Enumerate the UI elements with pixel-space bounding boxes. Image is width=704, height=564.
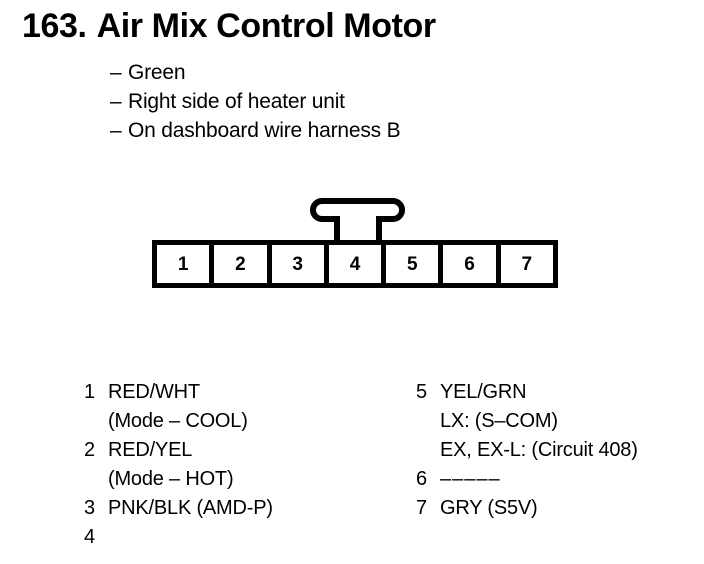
page-title-number: 163.: [22, 7, 87, 45]
pin-legend-number: 5: [416, 378, 440, 407]
connector-pin-5: 5: [386, 245, 443, 283]
pin-legend-wire-label: GRY (S5V): [440, 494, 696, 523]
pin-legend-wire-label: [108, 523, 404, 552]
connector-pin-7: 7: [501, 245, 553, 283]
pin-legend-entry: 6–––––: [416, 465, 696, 494]
spec-line: –Green: [110, 58, 400, 87]
connector-pinout-page: { "header": { "number": "163.", "title":…: [0, 0, 704, 564]
spec-dash: –: [110, 116, 128, 145]
pin-legend-wire-label: –––––: [440, 465, 696, 494]
pin-legend-number: 7: [416, 494, 440, 523]
pin-legend-row: 3PNK/BLK (AMD-P): [84, 494, 404, 523]
pin-legend-row: 7GRY (S5V): [416, 494, 696, 523]
pin-legend-sub-label: (Mode – HOT): [108, 465, 404, 494]
connector-pin-2: 2: [214, 245, 271, 283]
pin-legend-number: 1: [84, 378, 108, 407]
pin-legend-entry: 3PNK/BLK (AMD-P): [84, 494, 404, 523]
connector-pin-row: 1234567: [152, 240, 558, 288]
pin-legend-right-column: 5YEL/GRNLX: (S–COM)EX, EX-L: (Circuit 40…: [416, 378, 696, 523]
pin-legend-wire-label: YEL/GRN: [440, 378, 696, 407]
spec-list: –Green–Right side of heater unit–On dash…: [110, 58, 400, 145]
pin-legend-row: 5YEL/GRN: [416, 378, 696, 407]
pin-legend-number: 3: [84, 494, 108, 523]
spec-text: Green: [128, 61, 185, 84]
pin-legend-wire-label: RED/YEL: [108, 436, 404, 465]
spec-text: On dashboard wire harness B: [128, 119, 400, 142]
pin-legend-row: 6–––––: [416, 465, 696, 494]
spec-dash: –: [110, 58, 128, 87]
connector-diagram: 1234567: [152, 198, 558, 290]
pin-legend-number: 2: [84, 436, 108, 465]
pin-legend-sub-label: LX: (S–COM): [440, 407, 696, 436]
pin-legend-entry: 1RED/WHT(Mode – COOL): [84, 378, 404, 436]
pin-legend-entry: 5YEL/GRNLX: (S–COM)EX, EX-L: (Circuit 40…: [416, 378, 696, 465]
spec-line: –Right side of heater unit: [110, 87, 400, 116]
pin-legend-sub-label: (Mode – COOL): [108, 407, 404, 436]
pin-legend-row: 2RED/YEL: [84, 436, 404, 465]
spec-text: Right side of heater unit: [128, 90, 345, 113]
pin-legend-wire-label: PNK/BLK (AMD-P): [108, 494, 404, 523]
connector-pin-6: 6: [443, 245, 500, 283]
pin-legend-sub-label: EX, EX-L: (Circuit 408): [440, 436, 696, 465]
connector-pin-1: 1: [157, 245, 214, 283]
pin-legend-entry: 7GRY (S5V): [416, 494, 696, 523]
pin-legend-wire-label: RED/WHT: [108, 378, 404, 407]
pin-legend-number: 6: [416, 465, 440, 494]
pin-legend-row: 4: [84, 523, 404, 552]
page-title-text: Air Mix Control Motor: [97, 7, 436, 45]
spec-dash: –: [110, 87, 128, 116]
pin-legend-number: 4: [84, 523, 108, 552]
page-title: 163.Air Mix Control Motor: [22, 6, 436, 46]
pin-legend-entry: 2RED/YEL(Mode – HOT): [84, 436, 404, 494]
pin-legend-left-column: 1RED/WHT(Mode – COOL)2RED/YEL(Mode – HOT…: [84, 378, 404, 552]
connector-pin-3: 3: [272, 245, 329, 283]
pin-legend-row: 1RED/WHT: [84, 378, 404, 407]
spec-line: –On dashboard wire harness B: [110, 116, 400, 145]
pin-legend-entry: 4: [84, 523, 404, 552]
connector-pin-4: 4: [329, 245, 386, 283]
